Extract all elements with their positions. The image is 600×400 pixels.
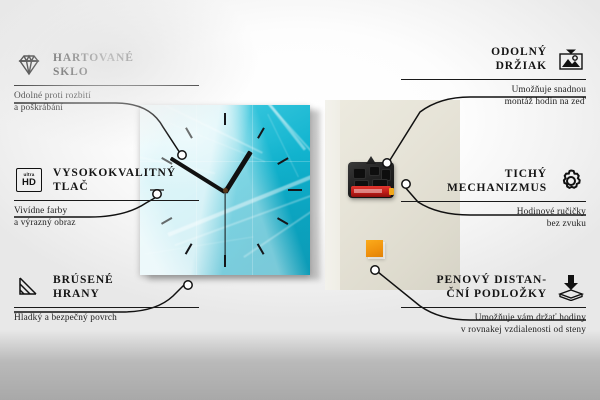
polished-edges-icon <box>14 272 44 302</box>
callout-node-hardened-glass <box>178 151 186 159</box>
divider <box>14 307 199 308</box>
feature-title: HARTOVANÉ SKLO <box>53 51 134 79</box>
feature-description: Umožňuje snadnou montáž hodin na zeď <box>401 84 586 108</box>
feature-title: BRÚSENÉ HRANY <box>53 273 114 301</box>
callout-node-hanger <box>383 159 391 167</box>
diamond-icon <box>14 50 44 80</box>
divider <box>401 307 586 308</box>
hd-badge-hd-text: HD <box>22 178 36 188</box>
divider <box>14 200 199 201</box>
feature-title: ODOLNÝ DRŽIAK <box>491 45 547 73</box>
feature-description: Odolné proti rozbití a poškrábání <box>14 90 199 114</box>
feature-description: Hladký a bezpečný povrch <box>14 312 199 324</box>
feature-title: PENOVÝ DISTAN- ČNÍ PODLOŽKY <box>437 273 547 301</box>
foam-spacer-icon <box>556 272 586 302</box>
feature-description: Umožňuje vám držať hodiny v rovnakej vzd… <box>401 312 586 336</box>
feature-polished-edges: BRÚSENÉ HRANY Hladký a bezpečný povrch <box>14 272 199 324</box>
feature-foam-spacers: PENOVÝ DISTAN- ČNÍ PODLOŽKY Umožňuje vám… <box>401 272 586 336</box>
picture-hanger-icon <box>556 44 586 74</box>
divider <box>401 201 586 202</box>
divider <box>14 85 199 86</box>
product-feature-infographic: HARTOVANÉ SKLO Odolné proti rozbití a po… <box>0 0 600 400</box>
feature-title: TICHÝ MECHANIZMUS <box>447 167 547 195</box>
gear-icon <box>556 166 586 196</box>
feature-hardened-glass: HARTOVANÉ SKLO Odolné proti rozbití a po… <box>14 50 199 114</box>
callout-node-foam <box>371 266 379 274</box>
feature-description: Vivídne farby a výrazný obraz <box>14 205 199 229</box>
feature-silent-mechanism: TICHÝ MECHANIZMUS Hodinové ručičky bez z… <box>401 166 586 230</box>
feature-description: Hodinové ručičky bez zvuku <box>401 206 586 230</box>
feature-title: VYSOKOKVALITNÝ TLAČ <box>53 166 176 194</box>
feature-durable-hanger: ODOLNÝ DRŽIAK Umožňuje snadnou montáž ho… <box>401 44 586 108</box>
ultra-hd-badge-icon: ultra HD <box>14 165 44 195</box>
feature-high-quality-print: ultra HD VYSOKOKVALITNÝ TLAČ Vivídne far… <box>14 165 199 229</box>
divider <box>401 79 586 80</box>
